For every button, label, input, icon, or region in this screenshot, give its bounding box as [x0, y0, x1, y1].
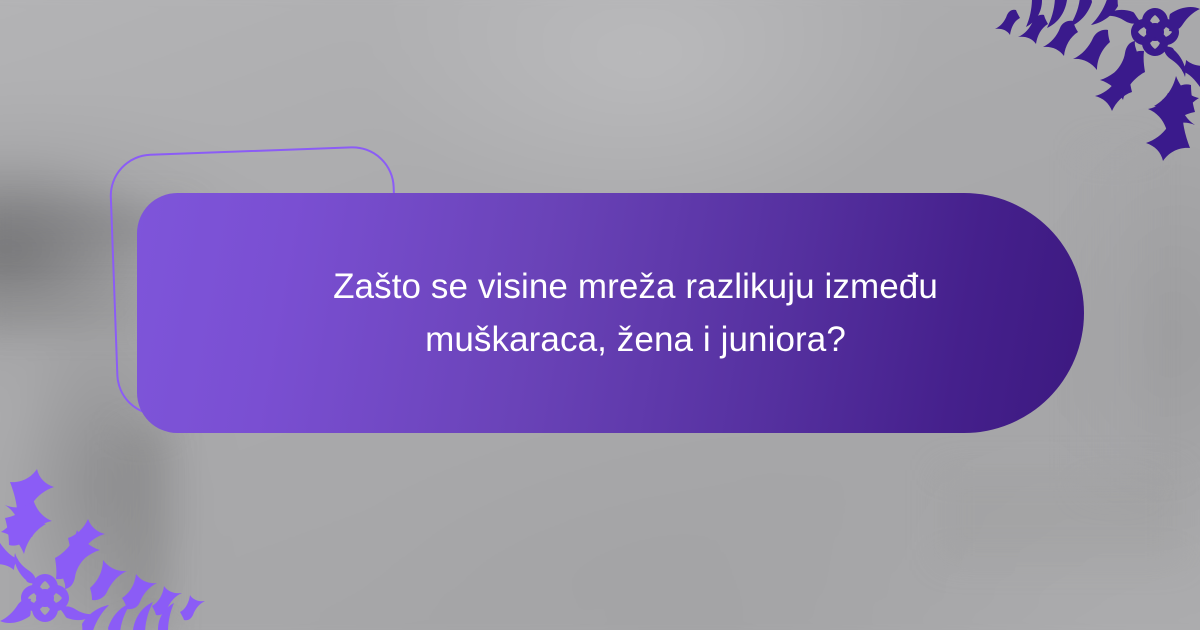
hero-card: Zašto se visine mreža razlikuju između m… — [137, 193, 1084, 433]
poster-canvas: Zašto se visine mreža razlikuju između m… — [0, 0, 1200, 630]
background-blur-shape — [1085, 150, 1145, 490]
background-blur-shape — [120, 430, 166, 630]
page-title: Zašto se visine mreža razlikuju između m… — [286, 260, 986, 366]
background-blur-shape — [940, 470, 1180, 560]
